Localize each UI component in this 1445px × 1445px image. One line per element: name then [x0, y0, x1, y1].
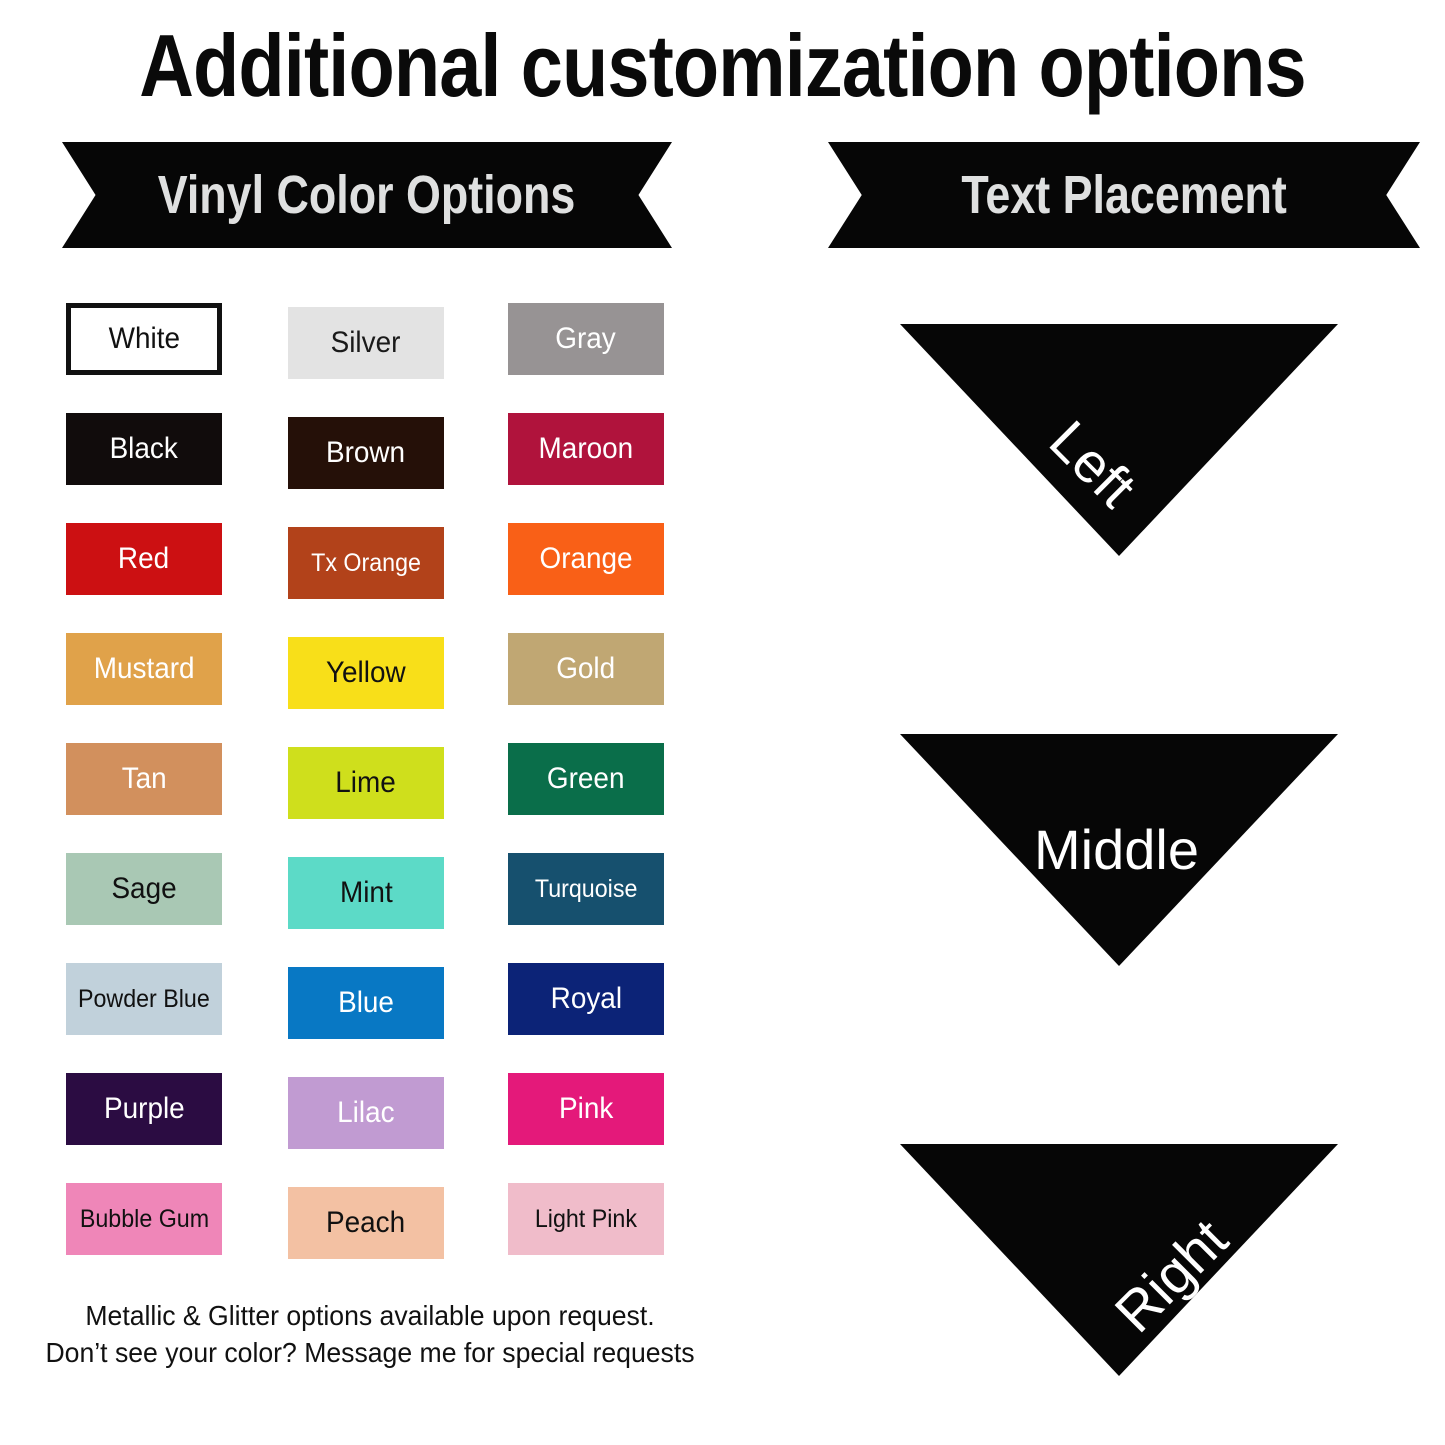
color-swatch[interactable]: Turquoise [508, 853, 664, 925]
color-swatch[interactable]: Red [66, 523, 222, 595]
color-swatch-label: Yellow [326, 658, 406, 688]
color-swatch-label: Royal [550, 984, 621, 1014]
color-swatch[interactable]: Maroon [508, 413, 664, 485]
color-swatch[interactable]: Purple [66, 1073, 222, 1145]
color-swatch-label: Tan [122, 764, 167, 794]
swatch-row: MustardYellowGold [66, 633, 686, 743]
footer-note: Metallic & Glitter options available upo… [0, 1297, 740, 1371]
color-swatch[interactable]: White [66, 303, 222, 375]
color-swatch-label: Black [110, 434, 178, 464]
color-swatch[interactable]: Gray [508, 303, 664, 375]
color-swatch[interactable]: Orange [508, 523, 664, 595]
color-swatch[interactable]: Light Pink [508, 1183, 664, 1255]
footer-note-line-2: Don’t see your color? Message me for spe… [19, 1334, 722, 1371]
color-swatch[interactable]: Sage [66, 853, 222, 925]
color-swatch[interactable]: Pink [508, 1073, 664, 1145]
infographic-page: Additional customization options Vinyl C… [0, 0, 1445, 1445]
bandana-placement-middle[interactable]: Middle [900, 734, 1338, 966]
color-swatch-label: Brown [326, 438, 405, 468]
bandana-placement-left[interactable]: Left [900, 324, 1338, 556]
banner-vinyl-color-options-label: Vinyl Color Options [158, 168, 576, 222]
color-swatch[interactable]: Tx Orange [288, 527, 444, 599]
color-swatch-label: Maroon [539, 434, 634, 464]
color-swatch[interactable]: Royal [508, 963, 664, 1035]
vinyl-color-swatch-grid: WhiteSilverGrayBlackBrownMaroonRedTx Ora… [66, 303, 686, 1293]
swatch-row: Bubble GumPeachLight Pink [66, 1183, 686, 1293]
color-swatch[interactable]: Silver [288, 307, 444, 379]
color-swatch[interactable]: Tan [66, 743, 222, 815]
color-swatch-label: Peach [326, 1208, 405, 1238]
color-swatch[interactable]: Lilac [288, 1077, 444, 1149]
bandana-placement-right[interactable]: Right [900, 1144, 1338, 1376]
color-swatch-label: Blue [338, 988, 394, 1018]
color-swatch[interactable]: Peach [288, 1187, 444, 1259]
swatch-row: SageMintTurquoise [66, 853, 686, 963]
color-swatch[interactable]: Bubble Gum [66, 1183, 222, 1255]
color-swatch-label: White [108, 324, 179, 354]
swatch-row: WhiteSilverGray [66, 303, 686, 413]
color-swatch-label: Turquoise [535, 877, 638, 902]
color-swatch-label: Tx Orange [311, 551, 421, 576]
color-swatch-label: Gold [557, 654, 616, 684]
swatch-row: PurpleLilacPink [66, 1073, 686, 1183]
color-swatch-label: Orange [539, 544, 632, 574]
banner-text-placement: Text Placement [828, 142, 1420, 248]
color-swatch-label: Green [547, 764, 625, 794]
color-swatch[interactable]: Yellow [288, 637, 444, 709]
color-swatch[interactable]: Brown [288, 417, 444, 489]
color-swatch-label: Gray [556, 324, 616, 354]
color-swatch[interactable]: Mint [288, 857, 444, 929]
banner-text-placement-label: Text Placement [961, 168, 1287, 222]
color-swatch[interactable]: Lime [288, 747, 444, 819]
swatch-row: BlackBrownMaroon [66, 413, 686, 523]
color-swatch-label: Pink [559, 1094, 613, 1124]
color-swatch-label: Mint [340, 878, 393, 908]
color-swatch[interactable]: Powder Blue [66, 963, 222, 1035]
page-title: Additional customization options [101, 22, 1344, 110]
banner-vinyl-color-options: Vinyl Color Options [62, 142, 672, 248]
color-swatch-label: Sage [111, 874, 176, 904]
color-swatch-label: Lilac [337, 1098, 394, 1128]
color-swatch[interactable]: Mustard [66, 633, 222, 705]
color-swatch[interactable]: Blue [288, 967, 444, 1039]
footer-note-line-1: Metallic & Glitter options available upo… [19, 1297, 722, 1334]
bandana-placement-middle-label: Middle [1034, 822, 1199, 878]
color-swatch-label: Purple [104, 1094, 185, 1124]
color-swatch[interactable]: Green [508, 743, 664, 815]
swatch-row: Powder BlueBlueRoyal [66, 963, 686, 1073]
color-swatch-label: Bubble Gum [79, 1207, 208, 1232]
color-swatch-label: Light Pink [535, 1207, 637, 1232]
color-swatch-label: Mustard [94, 654, 195, 684]
color-swatch-label: Powder Blue [78, 987, 210, 1012]
swatch-row: TanLimeGreen [66, 743, 686, 853]
swatch-row: RedTx OrangeOrange [66, 523, 686, 633]
bandana-placement-right-label: Right [1105, 1210, 1237, 1342]
bandana-placement-left-label: Left [1040, 411, 1146, 517]
color-swatch-label: Silver [331, 328, 401, 358]
color-swatch[interactable]: Gold [508, 633, 664, 705]
color-swatch-label: Lime [336, 768, 396, 798]
color-swatch-label: Red [118, 544, 169, 574]
color-swatch[interactable]: Black [66, 413, 222, 485]
